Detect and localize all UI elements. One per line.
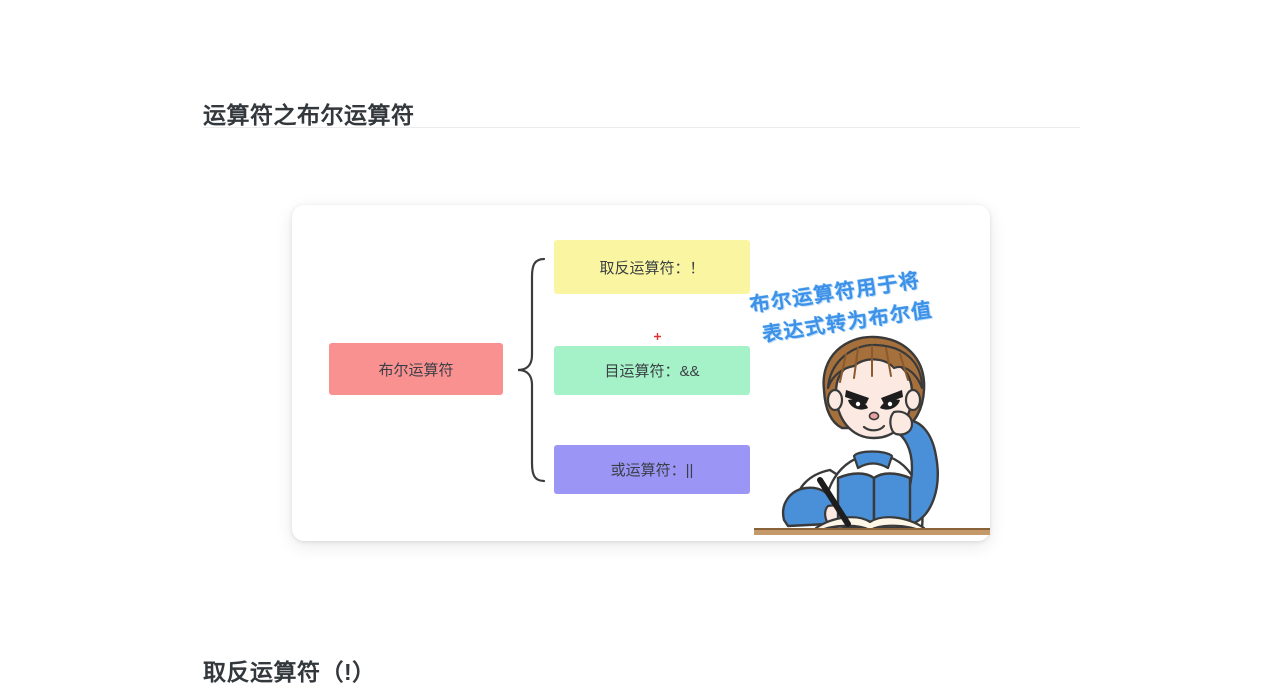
diagram-node-and-operator: 目运算符：&&: [554, 346, 750, 395]
cartoon-boy-studying-illustration: [754, 328, 990, 541]
cursor-marker-icon: [654, 333, 661, 340]
diagram-node-root: 布尔运算符: [329, 343, 503, 395]
title-divider: [203, 127, 1080, 128]
page-root: { "page": { "background_color": "#ffffff…: [0, 0, 1280, 698]
figure-card: 布尔运算符 取反运算符：！ 目运算符：&& 或运算符：|| 布尔运算符用于将 表…: [292, 205, 990, 541]
boolean-operator-diagram: 布尔运算符 取反运算符：！ 目运算符：&& 或运算符：|| 布尔运算符用于将 表…: [292, 205, 990, 541]
diagram-node-or-operator: 或运算符：||: [554, 445, 750, 494]
page-title: 运算符之布尔运算符: [203, 96, 415, 130]
curly-brace-icon: [514, 255, 548, 485]
section-title-not-operator: 取反运算符（!）: [203, 653, 376, 687]
diagram-node-not-operator: 取反运算符：！: [554, 240, 750, 294]
